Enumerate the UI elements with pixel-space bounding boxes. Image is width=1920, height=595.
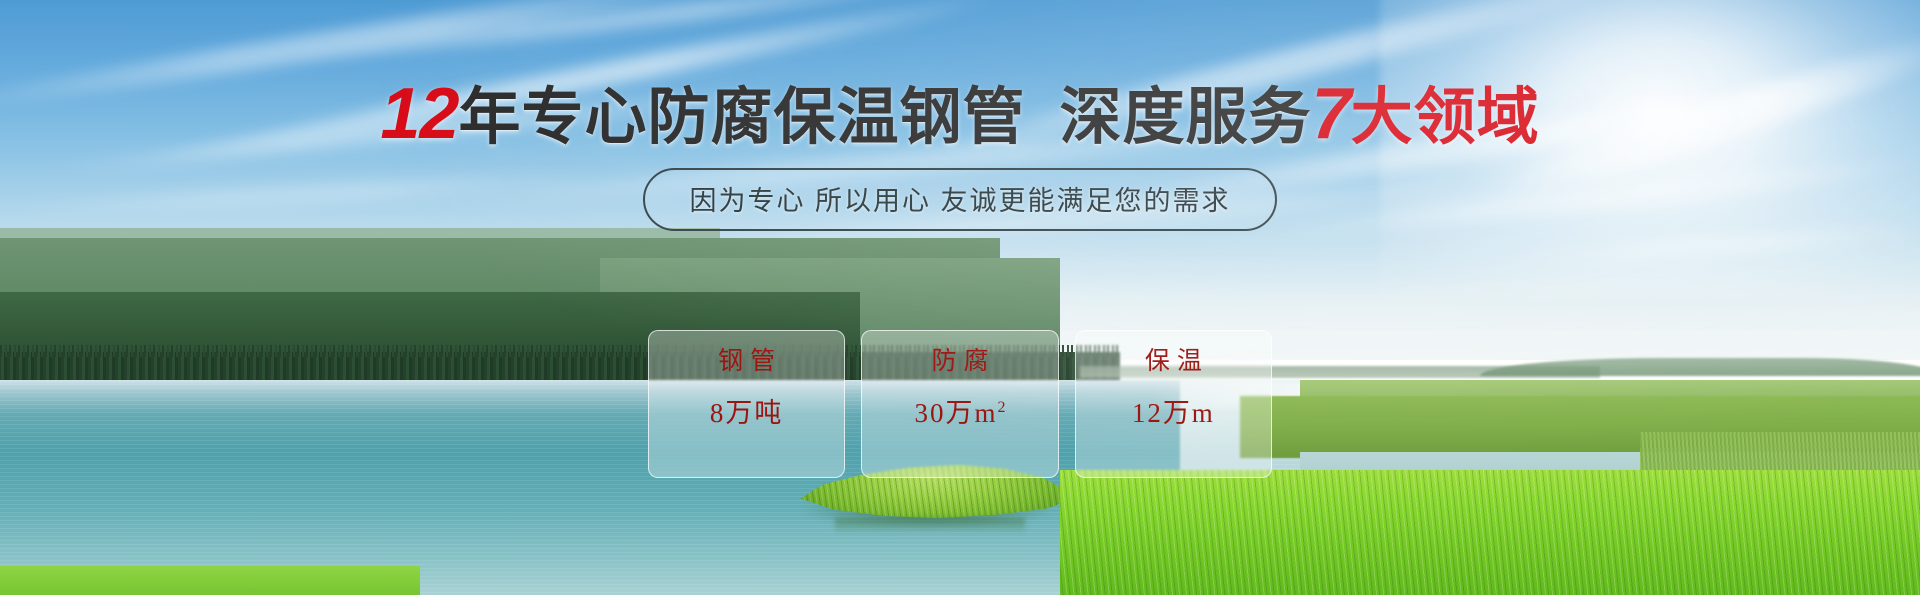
stat-value-superscript: 2 xyxy=(998,399,1006,416)
stat-value-text: 8万吨 xyxy=(710,398,784,428)
stat-card-value: 8万吨 xyxy=(710,400,784,427)
headline-service-text: 深度服务 xyxy=(1060,83,1312,152)
stat-value-text: 12万m xyxy=(1132,398,1215,428)
subtitle-pill: 因为专心 所以用心 友诚更能满足您的需求 xyxy=(643,168,1276,231)
stat-card-insulation[interactable]: 保温 12万m xyxy=(1075,330,1272,478)
stat-card-title: 保温 xyxy=(1138,349,1209,374)
stat-card-steel-pipe[interactable]: 钢管 8万吨 xyxy=(648,330,845,478)
subtitle-container: 因为专心 所以用心 友诚更能满足您的需求 xyxy=(0,168,1920,231)
foreground-grass-left xyxy=(0,566,420,595)
stat-card-title: 防腐 xyxy=(924,349,995,374)
headline-main-text: 年专心防腐保温钢管 xyxy=(459,83,1026,152)
far-shoreline-right xyxy=(1480,358,1920,376)
headline: 12年专心防腐保温钢管深度服务7大领域 xyxy=(0,78,1920,150)
island-reflection xyxy=(835,518,1025,534)
stat-card-value: 12万m xyxy=(1132,400,1215,427)
stat-card-group: 钢管 8万吨 防腐 30万m2 保温 12万m xyxy=(648,330,1272,478)
promo-banner: 12年专心防腐保温钢管深度服务7大领域 因为专心 所以用心 友诚更能满足您的需求… xyxy=(0,0,1920,595)
stat-card-value: 30万m2 xyxy=(914,400,1005,427)
stat-card-anticorrosion[interactable]: 防腐 30万m2 xyxy=(861,330,1058,478)
headline-fields-number: 7 xyxy=(1312,74,1351,154)
stat-card-title: 钢管 xyxy=(711,349,782,374)
headline-fields-unit: 大领域 xyxy=(1351,83,1540,152)
headline-years-number: 12 xyxy=(380,74,458,154)
foreground-grass-texture xyxy=(1060,470,1920,595)
stat-value-text: 30万m xyxy=(914,398,997,428)
